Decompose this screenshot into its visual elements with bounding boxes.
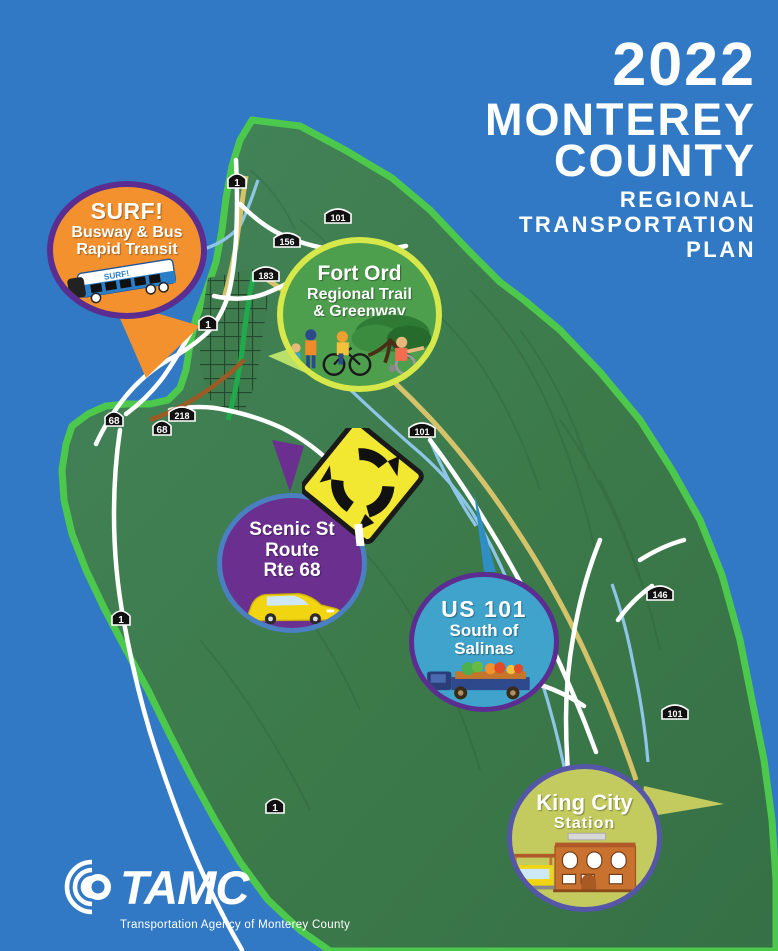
callout-fort-ord-sub-1: Regional Trail [283, 286, 436, 303]
svg-text:68: 68 [108, 416, 120, 427]
title-year: 2022 [485, 34, 756, 95]
svg-text:101: 101 [330, 213, 345, 223]
svg-text:183: 183 [258, 271, 273, 281]
surf-bus-illustration: SURF! [53, 251, 201, 309]
highway-shield-183: 183 [253, 267, 279, 281]
highway-shield-156: 156 [274, 233, 300, 247]
highway-shield-218: 218 [169, 407, 195, 421]
svg-text:1: 1 [205, 320, 211, 331]
callout-king-city[interactable]: King City Station [507, 764, 662, 912]
train-station-illustration [512, 829, 657, 903]
callout-surf-sub-1: Busway & Bus [53, 224, 201, 241]
roundabout-warning-sign[interactable] [302, 428, 424, 546]
title-sub-1: REGIONAL [485, 189, 756, 211]
title-sub-2: TRANSPORTATION [485, 214, 756, 236]
highway-shield-101: 101 [662, 705, 688, 719]
callout-scenic-sub-2: Rte 68 [222, 561, 362, 582]
highway-shield-1: 1 [199, 316, 217, 331]
rtp-cover-page: 11011561831686821810111461011 2022 MONTE… [0, 0, 778, 951]
svg-text:1: 1 [234, 178, 240, 189]
title-sub-3: PLAN [485, 239, 756, 261]
tamc-mark-icon [56, 856, 120, 918]
callout-us-101[interactable]: US 101 South of Salinas [409, 572, 559, 712]
tamc-wordmark: TAMC [120, 864, 248, 911]
highway-shield-1: 1 [266, 799, 284, 814]
callout-king-city-title: King City [512, 791, 657, 815]
svg-text:218: 218 [174, 411, 189, 421]
callout-fort-ord[interactable]: Fort Ord Regional Trail & Greenway [277, 237, 442, 392]
trail-users-tree-illustration [283, 310, 436, 382]
page-title: 2022 MONTEREY COUNTY REGIONAL TRANSPORTA… [485, 34, 756, 261]
highway-shield-68: 68 [153, 421, 171, 436]
tamc-tagline: Transportation Agency of Monterey County [120, 919, 350, 931]
produce-truck-illustration [414, 653, 554, 703]
callout-surf[interactable]: SURF! Busway & Bus Rapid Transit SURF! [47, 181, 207, 319]
yellow-car-illustration [222, 582, 362, 624]
svg-text:1: 1 [272, 803, 278, 814]
svg-text:1: 1 [118, 615, 124, 626]
highway-shield-1: 1 [112, 611, 130, 626]
tamc-logo[interactable]: TAMC Transportation Agency of Monterey C… [56, 856, 350, 931]
callout-us101-sub-1: South of [414, 622, 554, 640]
callout-fort-ord-title: Fort Ord [283, 263, 436, 286]
highway-shield-68: 68 [105, 412, 123, 427]
svg-text:156: 156 [279, 237, 294, 247]
highway-shield-146: 146 [647, 586, 673, 600]
svg-text:146: 146 [652, 590, 667, 600]
callout-us101-title: US 101 [414, 597, 554, 622]
highway-shield-1: 1 [228, 174, 246, 189]
highway-shield-101: 101 [325, 209, 351, 223]
svg-text:68: 68 [156, 425, 168, 436]
svg-text:101: 101 [667, 709, 682, 719]
callout-surf-title: SURF! [53, 199, 201, 224]
